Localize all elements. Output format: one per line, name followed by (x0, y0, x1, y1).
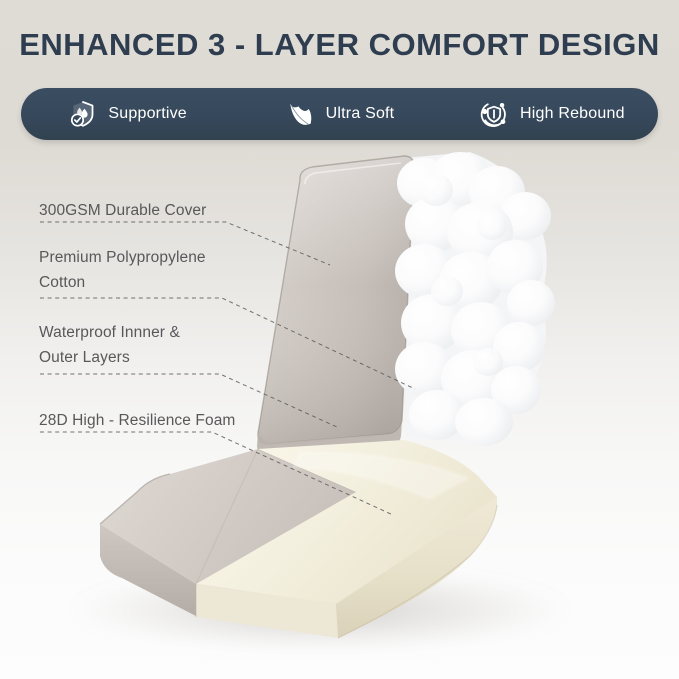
feather-icon (285, 99, 315, 129)
callout-layers-line-1: Waterproof Innner & (39, 320, 180, 345)
shield-droplet-check-icon (67, 99, 97, 129)
feature-bar: Supportive Ultra Soft (21, 88, 658, 140)
callout-layers: Waterproof Innner & Outer Layers (39, 320, 180, 370)
callout-cotton: Premium Polypropylene Cotton (39, 245, 206, 295)
feature-label-supportive: Supportive (108, 105, 187, 123)
feature-label-high-rebound: High Rebound (520, 105, 625, 123)
feature-item-supportive[interactable]: Supportive (21, 88, 233, 140)
callout-cotton-line-2: Cotton (39, 270, 206, 295)
feature-label-ultra-soft: Ultra Soft (326, 105, 395, 123)
callout-cover: 300GSM Durable Cover (39, 198, 206, 223)
page-title: ENHANCED 3 - LAYER COMFORT DESIGN (0, 26, 679, 64)
callout-foam-line-1: 28D High - Resilience Foam (39, 408, 235, 433)
cotton-fill-texture (395, 152, 585, 452)
feature-item-high-rebound[interactable]: High Rebound (446, 88, 658, 140)
backrest-cushion (257, 156, 414, 456)
infographic-canvas: ENHANCED 3 - LAYER COMFORT DESIGN Suppor… (0, 0, 679, 679)
callout-cover-line-1: 300GSM Durable Cover (39, 198, 206, 223)
callout-layers-line-2: Outer Layers (39, 345, 180, 370)
callout-cotton-line-1: Premium Polypropylene (39, 245, 206, 270)
shield-orbit-icon (479, 99, 509, 129)
feature-item-ultra-soft[interactable]: Ultra Soft (233, 88, 445, 140)
callout-foam: 28D High - Resilience Foam (39, 408, 235, 433)
